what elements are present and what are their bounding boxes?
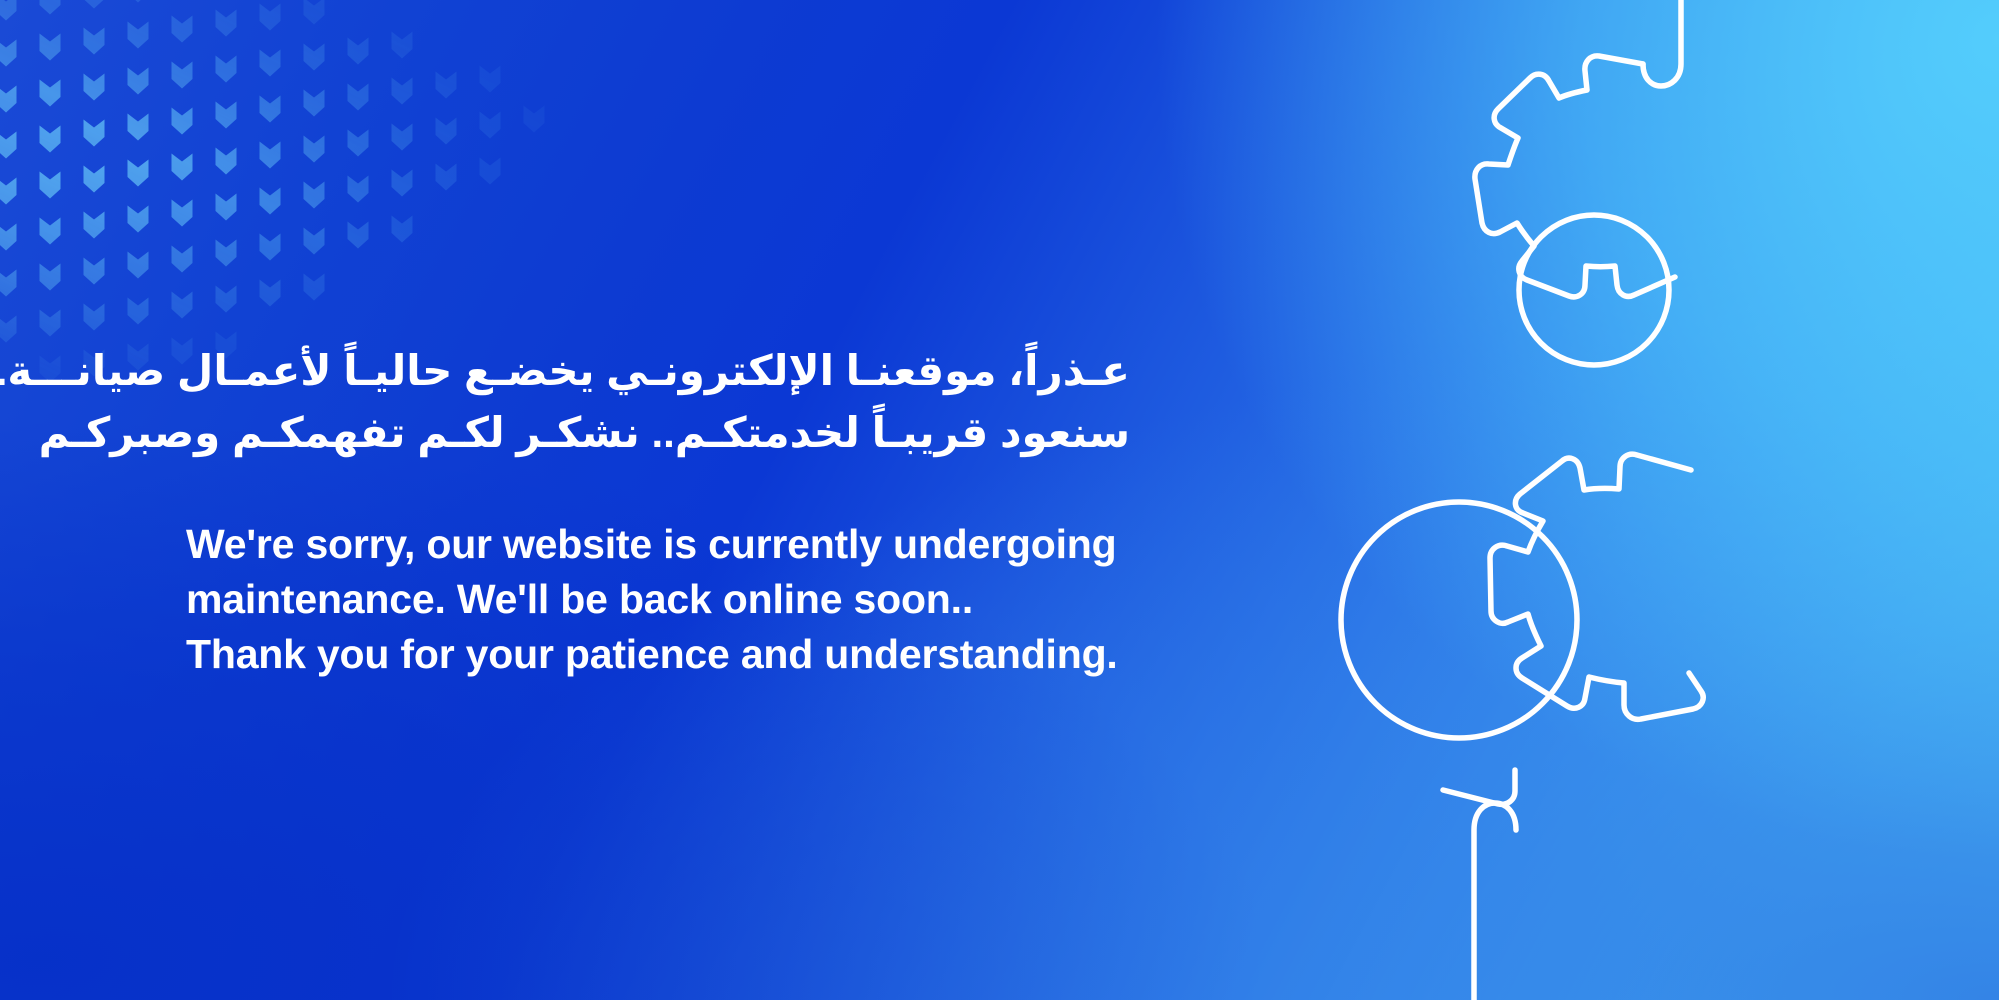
shaft-line-bottom — [1443, 770, 1515, 804]
english-message-line-1: We're sorry, our website is currently un… — [186, 517, 1166, 572]
gear-large-hub — [1341, 502, 1577, 738]
arabic-message-line-1: عـذراً، موقعنـا الإلكترونـي يخضـع حاليـا… — [120, 340, 1130, 402]
english-message: We're sorry, our website is currently un… — [186, 517, 1166, 682]
shaft-line-bottom-stem — [1474, 803, 1516, 1000]
gear-decoration-group — [1239, 0, 1999, 1000]
arabic-message: عـذراً، موقعنـا الإلكترونـي يخضـع حاليـا… — [120, 340, 1130, 464]
english-message-line-2: maintenance. We'll be back online soon.. — [186, 572, 1166, 627]
shaft-line-top — [1643, 0, 1681, 86]
maintenance-page: عـذراً، موقعنـا الإلكترونـي يخضـع حاليـا… — [0, 0, 1999, 1000]
english-message-line-3: Thank you for your patience and understa… — [186, 627, 1166, 682]
gear-small-teeth — [1475, 56, 1675, 297]
gear-large-teeth — [1490, 454, 1703, 719]
arabic-message-line-2: سنعود قريبـاً لخدمتكـم.. نشكـر لكـم تفهم… — [120, 402, 1130, 464]
